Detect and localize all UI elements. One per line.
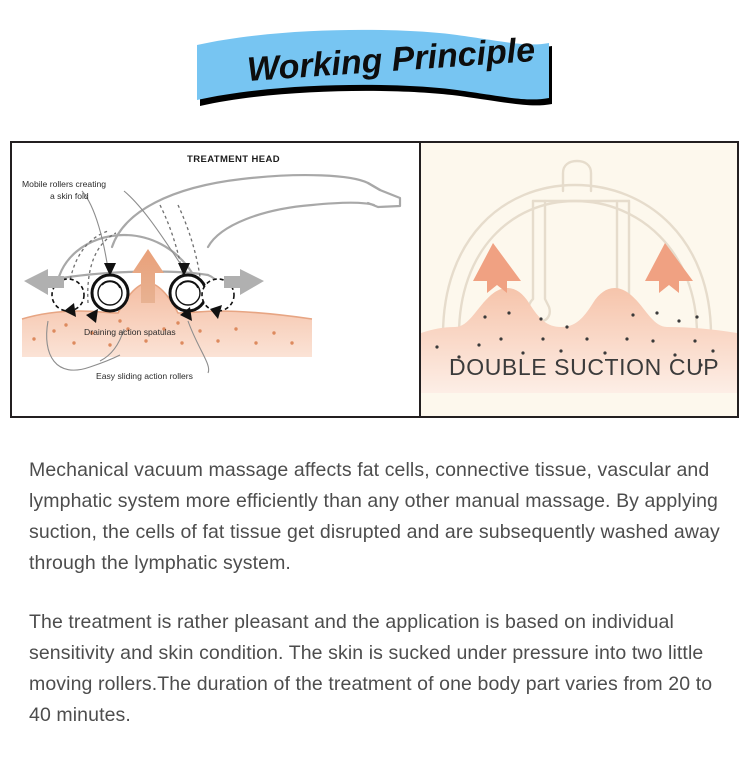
body-copy: Mechanical vacuum massage affects fat ce…	[29, 455, 729, 731]
suction-arrows	[473, 243, 693, 293]
treatment-head-panel: TREATMENT HEAD	[12, 143, 421, 416]
double-suction-cup-panel: DOUBLE SUCTION CUP	[421, 143, 737, 416]
paragraph-1: Mechanical vacuum massage affects fat ce…	[29, 455, 729, 579]
banner-ribbon: Working Principle	[0, 28, 750, 128]
double-suction-cup-caption: DOUBLE SUCTION CUP	[449, 354, 719, 380]
suction-arrow-left	[473, 243, 521, 293]
label-mobile-rollers-line1: Mobile rollers creating	[22, 179, 106, 189]
mobile-roller-right	[170, 275, 206, 311]
diagram-strip: TREATMENT HEAD	[10, 141, 739, 418]
suction-arrow-right	[645, 243, 693, 293]
paragraph-2: The treatment is rather pleasant and the…	[29, 607, 729, 731]
label-mobile-rollers-line2: a skin fold	[50, 191, 89, 201]
treatment-head-title: TREATMENT HEAD	[187, 154, 280, 165]
label-draining-spatulas: Draining action spatulas	[84, 327, 176, 337]
mobile-roller-left	[92, 275, 128, 311]
label-easy-sliding-rollers: Easy sliding action rollers	[96, 371, 193, 381]
working-principle-page: Working Principle TREATMENT HEAD	[0, 0, 750, 784]
